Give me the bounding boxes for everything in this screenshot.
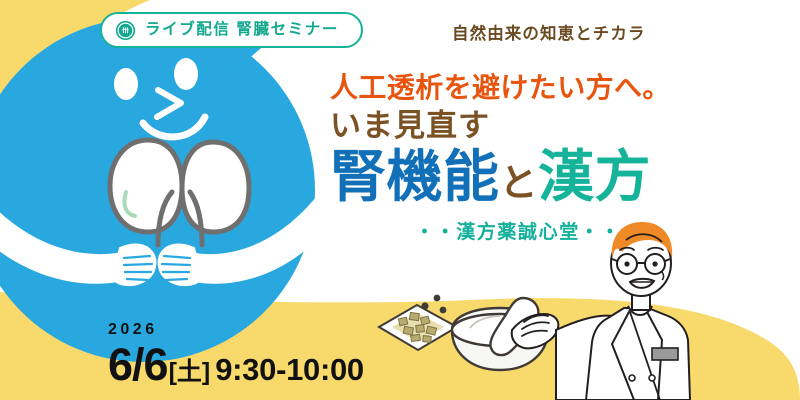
shop-name: ・・漢方薬誠心堂・・: [415, 217, 671, 244]
event-year: 2026: [108, 322, 364, 338]
event-day: 6/6: [108, 342, 168, 387]
seal-emblem-icon: [115, 20, 136, 41]
headline-sub: いま見直す: [330, 108, 671, 144]
seminar-poster: ライブ配信 腎臓セミナー 自然由来の知恵とチカラ 人工透析を避けたい方へ。 いま…: [0, 0, 800, 400]
event-date-row: 6/6 [土] 9:30-10:00: [108, 342, 364, 387]
headline-main-part2: 漢方: [538, 145, 651, 208]
headline-block: 人工透析を避けたい方へ。 いま見直す 腎機能と漢方 ・・漢方薬誠心堂・・: [330, 72, 671, 244]
date-time-block: 2026 6/6 [土] 9:30-10:00: [108, 322, 364, 387]
headline-main-conjunction: と: [500, 163, 539, 205]
event-time: 9:30-10:00: [215, 354, 364, 385]
headline-main-part1: 腎機能: [330, 145, 500, 208]
event-weekday: [土]: [169, 360, 211, 385]
tagline: 自然由来の知恵とチカラ: [452, 20, 646, 44]
headline-main: 腎機能と漢方: [330, 146, 671, 208]
live-seminar-badge[interactable]: ライブ配信 腎臓セミナー: [100, 12, 363, 48]
badge-label: ライブ配信 腎臓セミナー: [145, 22, 339, 38]
headline-lead: 人工透析を避けたい方へ。: [330, 72, 671, 104]
